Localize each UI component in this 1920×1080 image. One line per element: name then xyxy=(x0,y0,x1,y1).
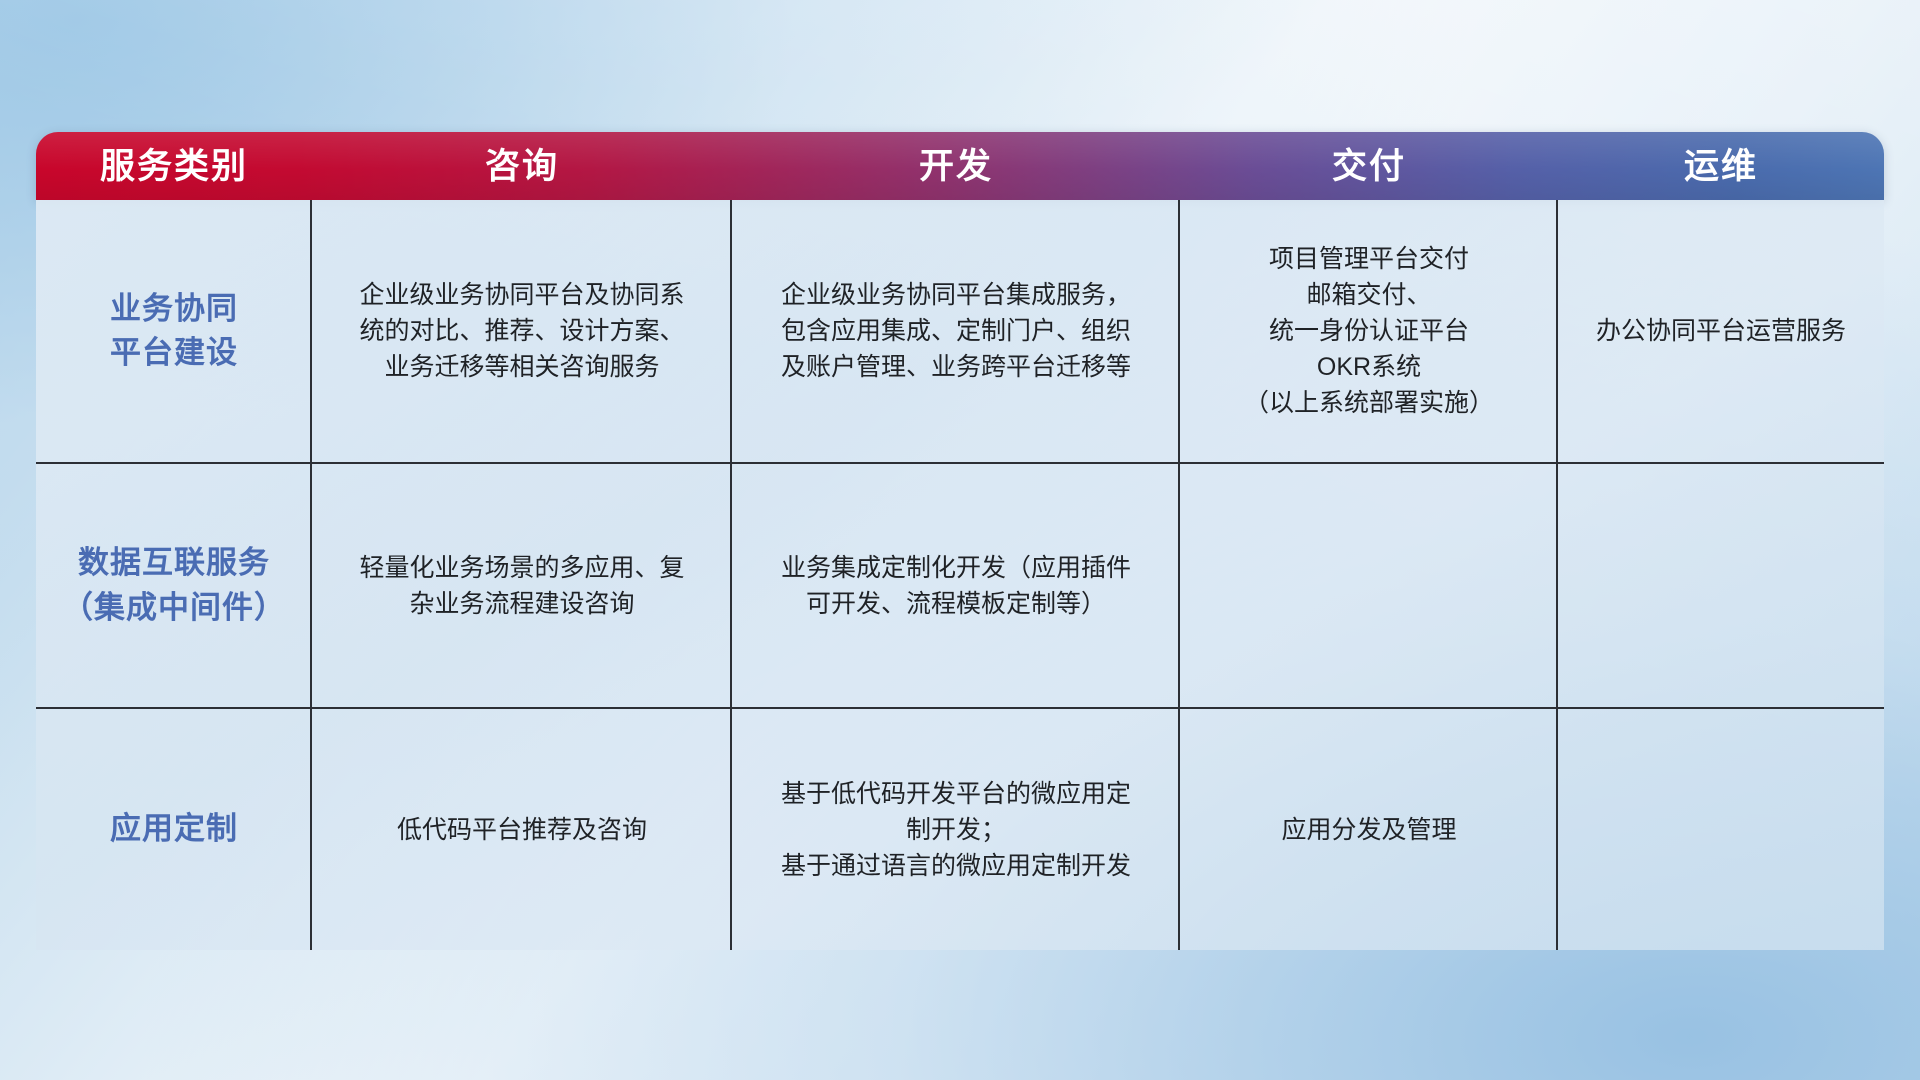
table-body: 业务协同 平台建设 企业级业务协同平台及协同系 统的对比、推荐、设计方案、 业务… xyxy=(36,200,1884,950)
row-category-label: 数据互联服务 （集成中间件） xyxy=(62,541,286,629)
service-matrix-table: 服务类别 咨询 开发 交付 运维 业务协同 平台建设 企业级业务协同平台及协同系… xyxy=(36,132,1884,950)
cell-text: 低代码平台推荐及咨询 xyxy=(397,812,647,848)
cell-consulting: 低代码平台推荐及咨询 xyxy=(312,709,732,950)
cell-text: 企业级业务协同平台及协同系 统的对比、推荐、设计方案、 业务迁移等相关咨询服务 xyxy=(359,277,684,385)
cell-text: 企业级业务协同平台集成服务， 包含应用集成、定制门户、组织 及账户管理、业务跨平… xyxy=(781,277,1131,385)
row-category-cell: 应用定制 xyxy=(36,709,312,950)
cell-development: 业务集成定制化开发（应用插件 可开发、流程模板定制等） xyxy=(732,464,1180,707)
cell-consulting: 轻量化业务场景的多应用、复 杂业务流程建设咨询 xyxy=(312,464,732,707)
column-header-development: 开发 xyxy=(732,149,1180,184)
cell-text: 业务集成定制化开发（应用插件 可开发、流程模板定制等） xyxy=(781,550,1131,622)
cell-text: 基于低代码开发平台的微应用定 制开发； 基于通过语言的微应用定制开发 xyxy=(781,776,1131,884)
column-header-category: 服务类别 xyxy=(36,149,312,184)
cell-operations xyxy=(1558,709,1884,950)
table-header-row: 服务类别 咨询 开发 交付 运维 xyxy=(36,132,1884,200)
row-category-label: 应用定制 xyxy=(110,807,238,851)
cell-operations: 办公协同平台运营服务 xyxy=(1558,200,1884,462)
column-header-operations: 运维 xyxy=(1558,149,1884,184)
cell-delivery: 应用分发及管理 xyxy=(1180,709,1558,950)
row-category-label: 业务协同 平台建设 xyxy=(110,287,238,375)
cell-text: 应用分发及管理 xyxy=(1281,812,1456,848)
table-row: 数据互联服务 （集成中间件） 轻量化业务场景的多应用、复 杂业务流程建设咨询 业… xyxy=(36,464,1884,709)
cell-text: 轻量化业务场景的多应用、复 杂业务流程建设咨询 xyxy=(359,550,684,622)
row-category-cell: 数据互联服务 （集成中间件） xyxy=(36,464,312,707)
table-row: 应用定制 低代码平台推荐及咨询 基于低代码开发平台的微应用定 制开发； 基于通过… xyxy=(36,709,1884,950)
cell-delivery: 项目管理平台交付 邮箱交付、 统一身份认证平台 OKR系统 （以上系统部署实施） xyxy=(1180,200,1558,462)
cell-development: 企业级业务协同平台集成服务， 包含应用集成、定制门户、组织 及账户管理、业务跨平… xyxy=(732,200,1180,462)
cell-operations xyxy=(1558,464,1884,707)
column-header-consulting: 咨询 xyxy=(312,149,732,184)
cell-text: 项目管理平台交付 邮箱交付、 统一身份认证平台 OKR系统 （以上系统部署实施） xyxy=(1244,241,1494,421)
cell-development: 基于低代码开发平台的微应用定 制开发； 基于通过语言的微应用定制开发 xyxy=(732,709,1180,950)
row-category-cell: 业务协同 平台建设 xyxy=(36,200,312,462)
table-row: 业务协同 平台建设 企业级业务协同平台及协同系 统的对比、推荐、设计方案、 业务… xyxy=(36,200,1884,464)
cell-consulting: 企业级业务协同平台及协同系 统的对比、推荐、设计方案、 业务迁移等相关咨询服务 xyxy=(312,200,732,462)
cell-delivery xyxy=(1180,464,1558,707)
cell-text: 办公协同平台运营服务 xyxy=(1596,313,1846,349)
column-header-delivery: 交付 xyxy=(1180,149,1558,184)
